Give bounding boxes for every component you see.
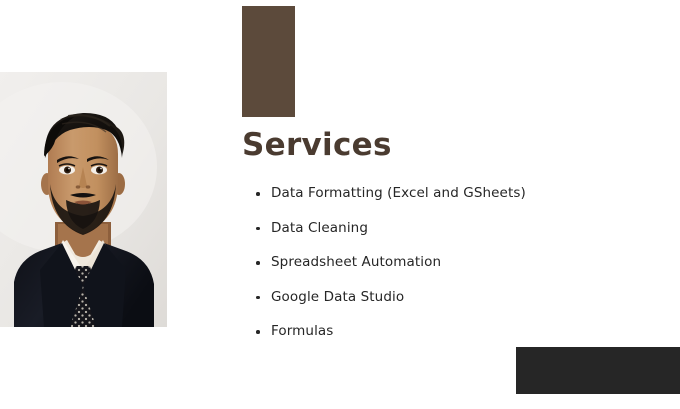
list-item: Data Cleaning — [242, 221, 662, 237]
slide-canvas: Services Data Formatting (Excel and GShe… — [0, 0, 680, 409]
portrait-photo — [0, 72, 167, 327]
brown-accent-block — [242, 6, 295, 117]
list-item: Google Data Studio — [242, 290, 662, 306]
list-item: Spreadsheet Automation — [242, 255, 662, 271]
services-list: Data Formatting (Excel and GSheets) Data… — [242, 186, 662, 340]
list-item-label: Formulas — [271, 323, 333, 339]
bullet-icon — [256, 261, 260, 265]
bullet-icon — [256, 330, 260, 334]
bullet-icon — [256, 227, 260, 231]
list-item-label: Data Formatting (Excel and GSheets) — [271, 185, 526, 201]
dark-accent-block — [516, 347, 680, 394]
portrait-photo-image — [0, 72, 167, 327]
page-title: Services — [242, 130, 662, 161]
list-item: Data Formatting (Excel and GSheets) — [242, 186, 662, 202]
list-item-label: Data Cleaning — [271, 220, 368, 236]
list-item-label: Google Data Studio — [271, 289, 404, 305]
bullet-icon — [256, 296, 260, 300]
bullet-icon — [256, 192, 260, 196]
content-column: Services Data Formatting (Excel and GShe… — [242, 130, 662, 340]
list-item-label: Spreadsheet Automation — [271, 254, 441, 270]
list-item: Formulas — [242, 324, 662, 340]
